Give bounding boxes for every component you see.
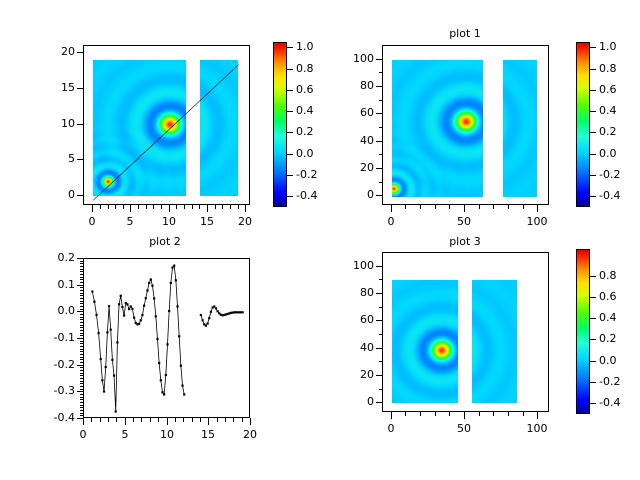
plot-2-ytick-minor <box>80 271 83 272</box>
plot-2-data-point <box>151 285 153 287</box>
plot-2-data-point <box>98 332 100 334</box>
plot-2-xtick-label: 10 <box>147 429 187 440</box>
plot-0-ytick <box>77 88 83 89</box>
plot-3-ytick-minor <box>379 361 382 362</box>
plot-0-xtick-label: 15 <box>187 216 227 227</box>
plot-2-ytick-minor <box>80 413 83 414</box>
plot-1-ytick <box>376 195 382 196</box>
plot-2-ytick-minor <box>80 341 83 342</box>
plot-3-ytick-label: 60 <box>336 314 374 325</box>
plot-3-colorbar-tick <box>590 297 596 298</box>
plot-2-ytick-minor <box>80 343 83 344</box>
plot-0-axes[interactable] <box>83 45 250 205</box>
plot-2-data-point <box>130 305 132 307</box>
plot-2-ytick-minor <box>80 263 83 264</box>
plot-2-ytick-label: 0.2 <box>37 252 75 263</box>
plot-2-data-point <box>160 379 162 381</box>
plot-0-ytick-label: 20 <box>37 46 75 57</box>
plot-2-ytick-minor <box>80 397 83 398</box>
plot-2-ytick-minor <box>80 319 83 320</box>
plot-3-ytick <box>376 320 382 321</box>
plot-2-data-point <box>180 365 182 367</box>
plot-2-xtick-minor <box>158 418 159 422</box>
plot-2-ytick-minor <box>80 378 83 379</box>
plot-1-colorbar-tick <box>590 175 596 176</box>
plot-0-colorbar-tick <box>287 111 293 112</box>
plot-2-data-point <box>103 390 105 392</box>
plot-1-xtick-minor <box>479 205 480 209</box>
plot-2-xtick-minor <box>200 418 201 422</box>
plot-0-colorbar-tick <box>287 90 293 91</box>
plot-1-colorbar-label: 0.0 <box>599 148 617 159</box>
plot-2-data-point <box>126 303 128 305</box>
plot-1-ytick <box>376 168 382 169</box>
plot-2-ytick-minor <box>80 389 83 390</box>
plot-2-data-point <box>95 314 97 316</box>
plot-0-xtick-minor <box>153 205 154 209</box>
plot-0-colorbar-label: 0.8 <box>296 63 314 74</box>
plot-2-data-point <box>115 410 117 412</box>
plot-1-xtick-minor <box>523 205 524 209</box>
plot-2-data-point <box>131 308 133 310</box>
plot-2-data-point <box>150 278 152 280</box>
plot-2-ytick-label: 0.0 <box>37 305 75 316</box>
plot-0-colorbar-tick <box>287 154 293 155</box>
plot-2-ytick-minor <box>80 399 83 400</box>
plot-2-data-point <box>141 314 143 316</box>
plot-1-ytick-minor <box>379 127 382 128</box>
plot-2-xtick <box>125 418 126 425</box>
plot-2-data-point <box>148 282 150 284</box>
plot-3-ytick-minor <box>379 389 382 390</box>
plot-1-colorbar-tick <box>590 69 596 70</box>
plot-2-ytick-minor <box>80 325 83 326</box>
plot-2-xtick-label: 15 <box>188 429 228 440</box>
plot-3-colorbar-tick <box>590 403 596 404</box>
plot-3-ytick-label: 40 <box>336 342 374 353</box>
plot-2-ytick-minor <box>80 349 83 350</box>
plot-2-data-point <box>176 305 178 307</box>
plot-2-data-point <box>183 393 185 395</box>
plot-0-xtick-minor <box>215 205 216 209</box>
plot-2-ytick-label: -0.2 <box>37 359 75 370</box>
plot-2-data-point <box>111 359 113 361</box>
plot-3-ytick <box>376 375 382 376</box>
plot-2-ytick-minor <box>80 335 83 336</box>
plot-2-ytick-minor <box>80 386 83 387</box>
plot-0-colorbar-label: 1.0 <box>296 41 314 52</box>
plot-2-ytick-minor <box>80 269 83 270</box>
plot-2-data-point <box>121 306 123 308</box>
plot-2-data-point <box>208 317 210 319</box>
plot-3-image-patch <box>392 280 458 403</box>
plot-1-ytick-minor <box>379 100 382 101</box>
panel-plot-2: plot 2 0.20.10.0-0.1-0.2-0.3-0.405101520 <box>0 240 320 480</box>
plot-1-xtick-label: 0 <box>371 216 411 227</box>
plot-0-ytick-label: 15 <box>37 82 75 93</box>
plot-0-ytick <box>77 159 83 160</box>
plot-0-colorbar-tick <box>287 132 293 133</box>
plot-2-ytick-minor <box>80 277 83 278</box>
plot-2-xtick <box>250 418 251 425</box>
plot-1-colorbar-tick <box>590 90 596 91</box>
plot-2-xtick <box>83 418 84 425</box>
plot-0-xtick-label: 5 <box>110 216 150 227</box>
plot-2-data-point <box>205 325 207 327</box>
plot-2-data-point <box>168 310 170 312</box>
plot-2-data-point <box>123 314 125 316</box>
plot-2-ytick-minor <box>80 346 83 347</box>
plot-1-ytick-label: 0 <box>336 189 374 200</box>
plot-2-data-point <box>140 319 142 321</box>
plot-2-data-point <box>120 295 122 297</box>
plot-3-ytick <box>376 402 382 403</box>
plot-3-colorbar-label: 0.6 <box>599 291 617 302</box>
plot-1-xtick <box>391 205 392 212</box>
plot-3-ytick-minor <box>379 279 382 280</box>
plot-2-ytick-label: -0.3 <box>37 385 75 396</box>
plot-3-colorbar-tick <box>590 276 596 277</box>
plot-1-ytick-minor <box>379 182 382 183</box>
plot-2-ytick-minor <box>80 274 83 275</box>
plot-1-ytick <box>376 59 382 60</box>
plot-2-ytick-minor <box>80 373 83 374</box>
plot-1-colorbar-label: 0.4 <box>599 105 617 116</box>
plot-2-ytick-minor <box>80 322 83 323</box>
plot-2-ytick-minor <box>80 333 83 334</box>
plot-1-ytick-minor <box>379 72 382 73</box>
plot-0-colorbar-tick <box>287 69 293 70</box>
plot-2-ytick <box>77 285 83 286</box>
plot-2-data-point <box>116 341 118 343</box>
plot-2-ytick-minor <box>80 405 83 406</box>
plot-2-data-point <box>156 338 158 340</box>
plot-2-data-point <box>161 391 163 393</box>
plot-2-xtick-minor <box>183 418 184 422</box>
plot-0-colorbar-tick <box>287 175 293 176</box>
plot-2-ytick-minor <box>80 359 83 360</box>
plot-3-colorbar-tick <box>590 318 596 319</box>
plot-2-ytick <box>77 258 83 259</box>
plot-1-xtick-label: 100 <box>517 216 557 227</box>
plot-2-ytick <box>77 311 83 312</box>
plot-1-colorbar-label: 0.2 <box>599 126 617 137</box>
plot-2-data-point <box>108 305 110 307</box>
plot-2-data-point <box>133 317 135 319</box>
plot-3-ytick <box>376 266 382 267</box>
panel-plot-3: plot 3 020406080100050100 0.80.60.40.20.… <box>320 240 640 480</box>
plot-2-data-point <box>170 282 172 284</box>
plot-0-colorbar-label: 0.0 <box>296 148 314 159</box>
plot-2-ytick-minor <box>80 410 83 411</box>
plot-2-ytick-minor <box>80 351 83 352</box>
plot-3-xtick-minor <box>523 412 524 416</box>
plot-2-ytick <box>77 391 83 392</box>
plot-0-xtick-label: 0 <box>72 216 112 227</box>
plot-2-ytick-minor <box>80 407 83 408</box>
plot-2-xtick-minor <box>100 418 101 422</box>
plot-2-xtick <box>167 418 168 425</box>
plot-2-ytick-label: -0.4 <box>37 412 75 423</box>
plot-2-xtick-minor <box>108 418 109 422</box>
plot-2-ytick-minor <box>80 402 83 403</box>
plot-1-xtick <box>464 205 465 212</box>
plot-0-xtick-label: 10 <box>149 216 189 227</box>
plot-0-ytick-label: 10 <box>37 118 75 129</box>
plot-2-ytick-minor <box>80 306 83 307</box>
plot-3-colorbar-label: -0.2 <box>599 376 620 387</box>
plot-1-colorbar-tick <box>590 47 596 48</box>
plot-1-ytick-label: 60 <box>336 107 374 118</box>
plot-1-xtick-label: 50 <box>444 216 484 227</box>
plot-0-xtick-minor <box>100 205 101 209</box>
plot-2-data-point <box>215 307 217 309</box>
plot-2-data-point <box>153 297 155 299</box>
plot-3-ytick-label: 0 <box>336 396 374 407</box>
plot-0-ytick-label: 0 <box>37 189 75 200</box>
plot-2-xtick-minor <box>133 418 134 422</box>
plot-2-ytick-minor <box>80 327 83 328</box>
plot-3-xtick <box>391 412 392 419</box>
plot-2-data-point <box>217 310 219 312</box>
plot-1-colorbar[interactable] <box>576 42 590 207</box>
plot-0-colorbar-label: -0.2 <box>296 169 317 180</box>
plot-0-xtick-minor <box>176 205 177 209</box>
plot-1-colorbar-tick <box>590 132 596 133</box>
plot-2-data-point <box>201 319 203 321</box>
plot-2-ytick-minor <box>80 354 83 355</box>
plot-2-ytick <box>77 338 83 339</box>
plot-3-xtick-minor <box>508 412 509 416</box>
plot-2-ytick-minor <box>80 266 83 267</box>
plot-2-data-point <box>165 374 167 376</box>
plot-3-xtick-minor <box>479 412 480 416</box>
plot-2-data-point <box>91 290 93 292</box>
plot-1-xtick-minor <box>405 205 406 209</box>
plot-1-axes[interactable] <box>382 45 549 205</box>
plot-3-colorbar-tick <box>590 361 596 362</box>
plot-3-colorbar-label: 0.4 <box>599 312 617 323</box>
plot-2-xtick-label: 5 <box>105 429 145 440</box>
plot-0-overlay-line <box>84 46 250 205</box>
plot-1-xtick <box>537 205 538 212</box>
plot-2-data-point <box>93 301 95 303</box>
plot-0-xtick-minor <box>192 205 193 209</box>
plot-0-colorbar-label: 0.4 <box>296 105 314 116</box>
plot-2-data-point <box>106 331 108 333</box>
plot-0-ytick <box>77 195 83 196</box>
plot-2-ytick-minor <box>80 383 83 384</box>
plot-2-data-point <box>113 374 115 376</box>
plot-2-data-point <box>146 289 148 291</box>
plot-2-xtick-minor <box>225 418 226 422</box>
plot-1-colorbar-label: -0.2 <box>599 169 620 180</box>
plot-2-data-point <box>200 314 202 316</box>
plot-1-colorbar-tick <box>590 111 596 112</box>
plot-2-ytick <box>77 365 83 366</box>
plot-2-data-point <box>105 366 107 368</box>
plot-2-ytick-minor <box>80 309 83 310</box>
plot-3-colorbar-tick <box>590 339 596 340</box>
plot-2-ytick-minor <box>80 301 83 302</box>
plot-2-ytick-label: 0.1 <box>37 279 75 290</box>
plot-2-data-point <box>242 311 244 313</box>
plot-2-data-point <box>178 335 180 337</box>
plot-0-xtick-minor <box>238 205 239 209</box>
plot-2-data-point <box>181 385 183 387</box>
plot-2-ytick-minor <box>80 357 83 358</box>
plot-3-xtick-minor <box>420 412 421 416</box>
plot-1-colorbar-label: 0.8 <box>599 63 617 74</box>
plot-2-xtick-minor <box>91 418 92 422</box>
plot-2-ytick-minor <box>80 290 83 291</box>
plot-0-xtick-minor <box>199 205 200 209</box>
plot-2-ytick-label: -0.1 <box>37 332 75 343</box>
plot-1-ytick-label: 100 <box>336 53 374 64</box>
plot-3-xtick-minor <box>493 412 494 416</box>
plot-2-xtick <box>208 418 209 425</box>
plot-2-axes[interactable] <box>83 258 250 418</box>
plot-3-ytick-minor <box>379 334 382 335</box>
plot-0-xtick <box>92 205 93 212</box>
plot-3-colorbar[interactable] <box>576 249 590 414</box>
plot-2-data-point <box>173 265 175 267</box>
plot-2-xtick-minor <box>150 418 151 422</box>
plot-2-xtick-label: 20 <box>230 429 270 440</box>
plot-1-title: plot 1 <box>380 28 550 40</box>
plot-3-axes[interactable] <box>382 252 549 412</box>
plot-2-ytick-minor <box>80 295 83 296</box>
plot-1-image-patch <box>392 60 483 197</box>
plot-1-ytick <box>376 141 382 142</box>
panel-plot-0: 0510152005101520 1.00.80.60.40.20.0-0.2-… <box>0 0 320 240</box>
plot-3-ytick <box>376 293 382 294</box>
plot-3-xtick <box>464 412 465 419</box>
plot-1-colorbar-label: -0.4 <box>599 190 620 201</box>
plot-0-ytick <box>77 52 83 53</box>
plot-0-xtick-minor <box>123 205 124 209</box>
plot-1-xtick-minor <box>435 205 436 209</box>
plot-2-ytick-minor <box>80 394 83 395</box>
plot-3-colorbar-tick <box>590 382 596 383</box>
plot-2-xtick-minor <box>116 418 117 422</box>
plot-2-ytick-minor <box>80 367 83 368</box>
plot-0-colorbar-label: 0.6 <box>296 84 314 95</box>
plot-0-colorbar-tick <box>287 47 293 48</box>
plot-3-colorbar-label: 0.0 <box>599 355 617 366</box>
plot-2-series-line <box>92 266 184 412</box>
plot-0-xtick <box>130 205 131 212</box>
plot-3-xtick-minor <box>435 412 436 416</box>
plot-1-ytick-label: 20 <box>336 162 374 173</box>
plot-1-ytick <box>376 113 382 114</box>
plot-1-xtick-minor <box>493 205 494 209</box>
plot-0-colorbar-label: 0.2 <box>296 126 314 137</box>
plot-3-xtick <box>537 412 538 419</box>
plot-0-xtick-label: 20 <box>225 216 265 227</box>
plot-2-ytick-minor <box>80 287 83 288</box>
plot-0-xtick-minor <box>115 205 116 209</box>
plot-3-xtick-minor <box>449 412 450 416</box>
plot-2-xtick-minor <box>233 418 234 422</box>
plot-2-data-point <box>128 308 130 310</box>
plot-2-ytick-minor <box>80 282 83 283</box>
plot-2-data-point <box>166 343 168 345</box>
plot-0-xtick-minor <box>222 205 223 209</box>
plot-2-xtick-minor <box>217 418 218 422</box>
plot-2-ytick-minor <box>80 330 83 331</box>
plot-1-xtick-minor <box>508 205 509 209</box>
plot-2-ytick-minor <box>80 314 83 315</box>
plot-2-ytick-minor <box>80 279 83 280</box>
plot-2-data-point <box>110 329 112 331</box>
plot-2-xtick-minor <box>141 418 142 422</box>
plot-2-ytick-minor <box>80 362 83 363</box>
plot-2-title: plot 2 <box>80 236 250 248</box>
plot-3-colorbar-label: 0.2 <box>599 333 617 344</box>
plot-2-data-point <box>118 303 120 305</box>
plot-0-xtick-minor <box>161 205 162 209</box>
plot-1-image-patch <box>503 60 537 197</box>
plot-1-colorbar-tick <box>590 196 596 197</box>
plot-2-ytick-minor <box>80 293 83 294</box>
plot-2-ytick-minor <box>80 370 83 371</box>
plot-2-data-point <box>158 362 160 364</box>
plot-2-xtick-minor <box>175 418 176 422</box>
plot-2-ytick-minor <box>80 298 83 299</box>
plot-1-ytick-minor <box>379 154 382 155</box>
plot-3-ytick-label: 100 <box>336 260 374 271</box>
plot-3-ytick-label: 80 <box>336 287 374 298</box>
plot-2-data-point <box>101 379 103 381</box>
plot-1-ytick-label: 40 <box>336 135 374 146</box>
plot-0-xtick <box>245 205 246 212</box>
plot-2-ytick-minor <box>80 303 83 304</box>
plot-3-ytick-label: 20 <box>336 369 374 380</box>
plot-0-ytick <box>77 124 83 125</box>
plot-3-colorbar-label: 0.8 <box>599 270 617 281</box>
plot-3-xtick-label: 0 <box>371 423 411 434</box>
plot-2-xtick-minor <box>192 418 193 422</box>
plot-2-ytick-minor <box>80 261 83 262</box>
plot-0-colorbar-label: -0.4 <box>296 190 317 201</box>
plot-3-xtick-label: 50 <box>444 423 484 434</box>
plot-0-xtick-minor <box>184 205 185 209</box>
plot-0-xtick <box>207 205 208 212</box>
plot-2-data-point <box>206 322 208 324</box>
plot-0-xtick-minor <box>138 205 139 209</box>
plot-3-ytick <box>376 348 382 349</box>
plot-2-data-point <box>155 315 157 317</box>
plot-2-ytick-minor <box>80 381 83 382</box>
plot-2-line-series <box>84 259 250 418</box>
plot-2-ytick-minor <box>80 415 83 416</box>
plot-2-data-point <box>145 297 147 299</box>
plot-2-data-point <box>100 358 102 360</box>
plot-3-xtick-label: 100 <box>517 423 557 434</box>
plot-2-data-point <box>138 323 140 325</box>
plot-0-xtick-minor <box>108 205 109 209</box>
plot-2-ytick-minor <box>80 317 83 318</box>
plot-2-data-point <box>210 311 212 313</box>
plot-1-ytick <box>376 86 382 87</box>
plot-1-colorbar-label: 1.0 <box>599 41 617 52</box>
plot-1-xtick-minor <box>420 205 421 209</box>
plot-3-image-patch <box>472 280 517 403</box>
plot-0-colorbar[interactable] <box>273 42 287 207</box>
plot-3-colorbar-label: -0.4 <box>599 397 620 408</box>
plot-0-colorbar-tick <box>287 196 293 197</box>
